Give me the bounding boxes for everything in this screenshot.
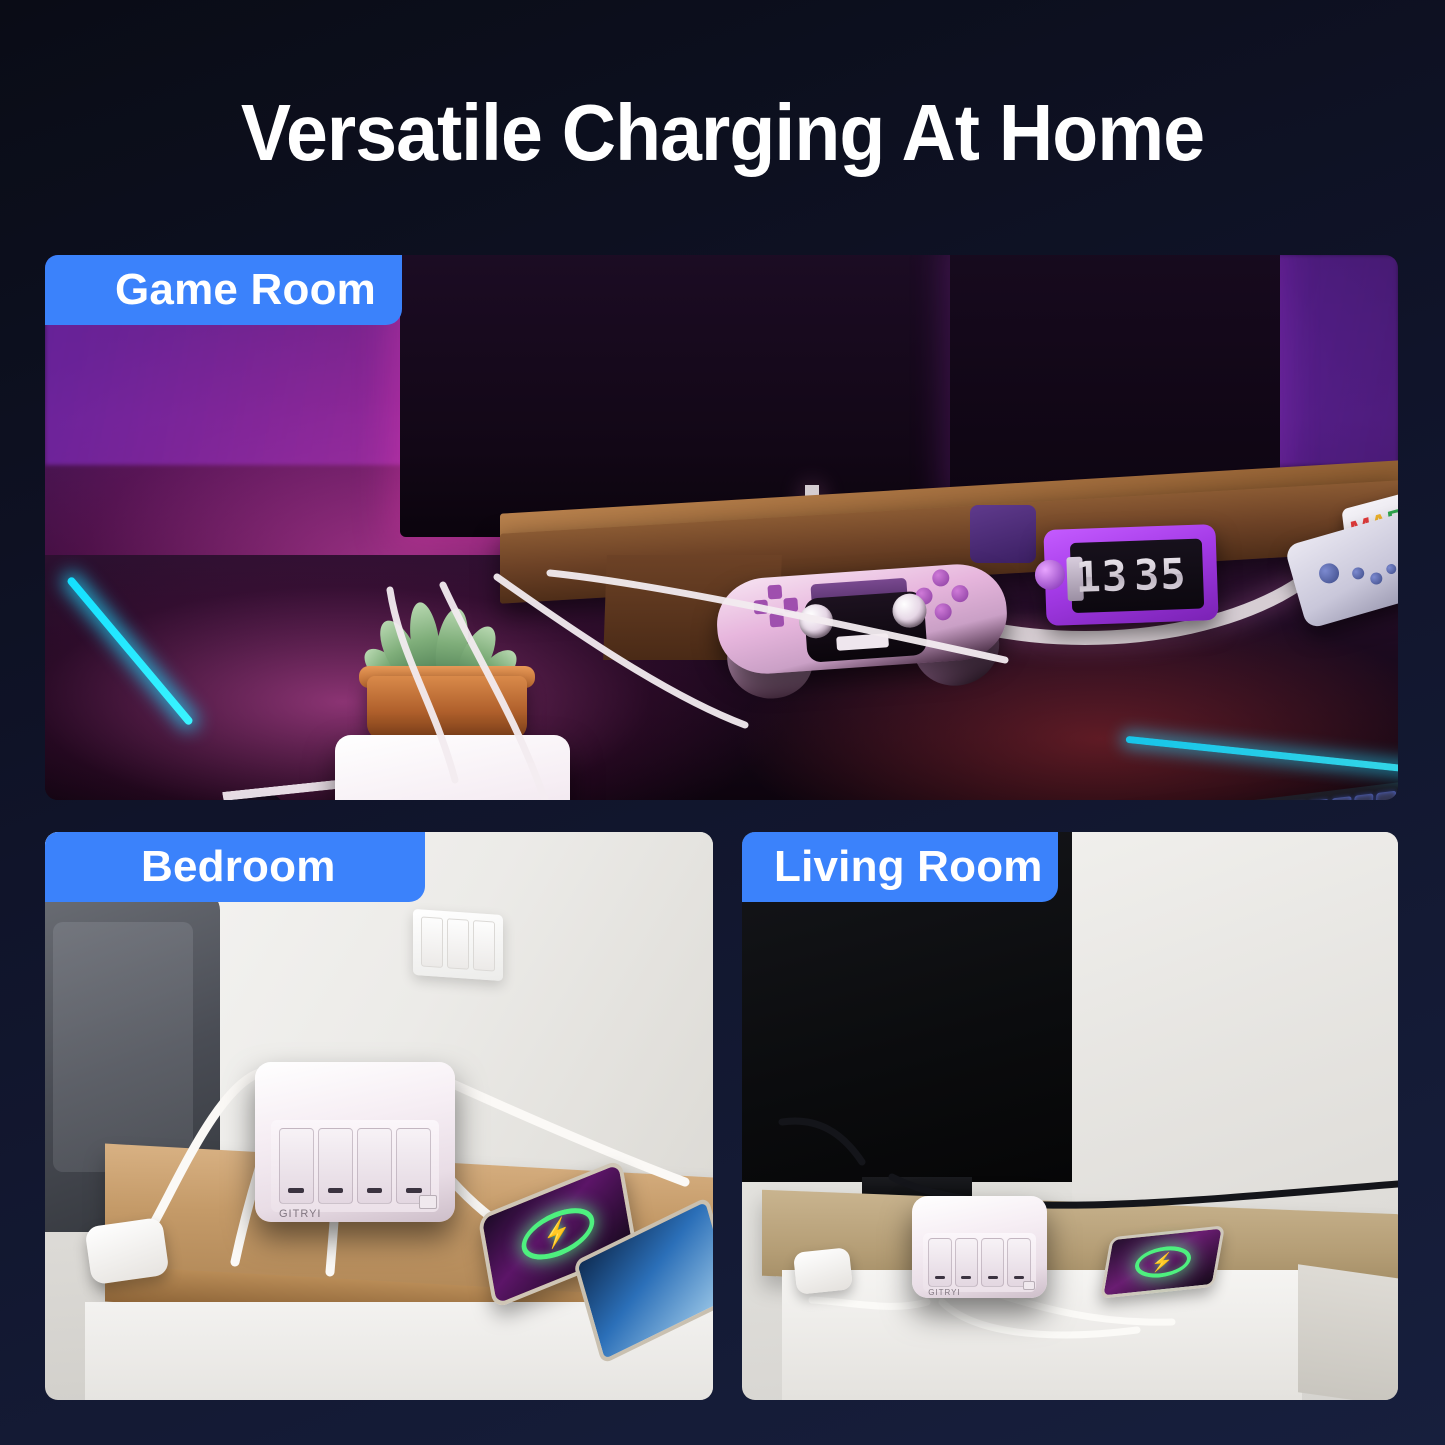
charger-port-1 bbox=[279, 1128, 314, 1205]
charging-station: GITRYI bbox=[335, 735, 570, 800]
lightning-bolt-icon: ⚡ bbox=[542, 1216, 574, 1251]
flip-clock: 1335 bbox=[1043, 524, 1218, 626]
badge-bedroom[interactable]: Bedroom bbox=[45, 832, 425, 902]
charger-indicator bbox=[1023, 1281, 1035, 1290]
charger-brand-label: GITRYI bbox=[928, 1288, 961, 1297]
lightning-bolt-icon: ⚡ bbox=[1150, 1252, 1174, 1272]
charging-indicator: ⚡ bbox=[1132, 1244, 1193, 1281]
living-room-photo bbox=[742, 832, 1398, 1400]
wall-switch-1[interactable] bbox=[421, 916, 443, 968]
charging-station: GITRYI bbox=[912, 1196, 1047, 1298]
game-room-photo: 1335 MARIO PARTY bbox=[45, 255, 1398, 800]
charger-port-2 bbox=[318, 1128, 353, 1205]
game-controller bbox=[713, 547, 1011, 692]
wall-switch-2[interactable] bbox=[447, 918, 469, 970]
charger-brand-label: GITRYI bbox=[279, 1208, 321, 1220]
succulent-plant bbox=[345, 595, 545, 740]
earbuds-case bbox=[84, 1217, 169, 1285]
wall-switch-plate bbox=[413, 909, 503, 981]
charger-port-2 bbox=[955, 1238, 978, 1286]
charger-indicator bbox=[419, 1195, 437, 1209]
charger-port-3 bbox=[357, 1128, 392, 1205]
wall-switch-3[interactable] bbox=[473, 920, 495, 972]
badge-game-room[interactable]: Game Room bbox=[45, 255, 402, 325]
product-poster: Versatile Charging At Home bbox=[0, 0, 1445, 1445]
clock-time: 1335 bbox=[1043, 524, 1218, 626]
panel-living-room: GITRYI ⚡ Living Room bbox=[742, 832, 1398, 1400]
panel-game-room: 1335 MARIO PARTY bbox=[45, 255, 1398, 800]
console-side bbox=[1298, 1264, 1398, 1400]
charger-port-1 bbox=[928, 1238, 951, 1286]
badge-living-room[interactable]: Living Room bbox=[742, 832, 1058, 902]
earbuds-case bbox=[793, 1247, 853, 1295]
charger-port-4 bbox=[1007, 1238, 1030, 1286]
charger-port-4 bbox=[396, 1128, 431, 1205]
page-title: Versatile Charging At Home bbox=[43, 86, 1401, 180]
charger-port-3 bbox=[981, 1238, 1004, 1286]
charging-station: GITRYI bbox=[255, 1062, 455, 1222]
secondary-monitor bbox=[950, 255, 1280, 497]
panel-bedroom: GITRYI ⚡ Bedroom bbox=[45, 832, 713, 1400]
living-room-wall bbox=[1072, 832, 1398, 1212]
